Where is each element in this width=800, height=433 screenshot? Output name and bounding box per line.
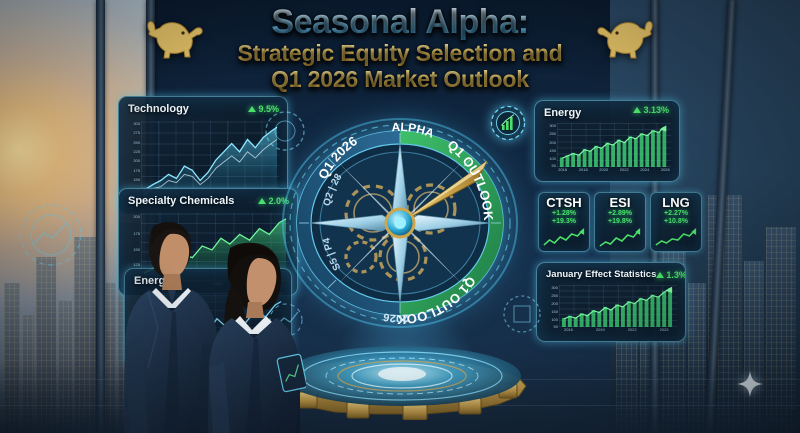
ticker-card[interactable]: LNG +2.27% +10.8% — [650, 192, 702, 252]
ticker-sparkline — [541, 227, 587, 249]
ticker-card-group: CTSH +1.28% +19.3% ESI +2.89% +19.8% — [538, 192, 702, 252]
title-block: Seasonal Alpha: Strategic Equity Selecti… — [0, 0, 800, 100]
ticker-change-1: +2.27% — [653, 210, 699, 218]
ticker-change-1: +2.89% — [597, 210, 643, 218]
bar-chart-icon[interactable] — [489, 104, 527, 142]
holographic-gear-pedestal — [275, 340, 530, 420]
ticker-symbol: CTSH — [541, 196, 587, 210]
compass-dial[interactable]: Q1 2026 ALPHA Q1 OUTLOOK Q1 OUTLOOK 2026… — [281, 117, 519, 329]
panel-delta: 3.13% — [633, 105, 669, 115]
page-subtitle-line-1: Strategic Equity Selection and — [0, 40, 800, 66]
panel-january-effect-statistics[interactable]: January Effect Statistics 1.3% 300250200… — [536, 262, 686, 342]
ticker-sparkline — [597, 227, 643, 249]
page-subtitle-line-2: Q1 2026 Market Outlook — [0, 66, 800, 92]
bull-icon — [596, 14, 658, 60]
ticker-symbol: ESI — [597, 196, 643, 210]
triangle-up-icon — [258, 198, 266, 204]
panel-energy[interactable]: Energy 3.13% 300250200 15010050 20162018… — [534, 100, 680, 182]
x-axis-labels: 20162019 20222025 — [559, 327, 677, 339]
panel-title: Technology — [128, 103, 189, 115]
ticker-card[interactable]: CTSH +1.28% +19.3% — [538, 192, 590, 252]
y-axis-labels: 300250200 15010050 — [537, 123, 557, 167]
ticker-sparkline — [653, 227, 699, 249]
screenshot-canvas: Seasonal Alpha: Strategic Equity Selecti… — [0, 0, 800, 433]
triangle-up-icon — [633, 107, 641, 113]
bull-icon — [142, 14, 204, 60]
chart-energy: 300250200 15010050 201620182020 20222024… — [557, 123, 671, 167]
panel-title: January Effect Statistics — [546, 269, 656, 280]
sparkle-icon — [737, 371, 763, 397]
panel-title: Energy — [544, 107, 581, 119]
panel-delta: 1.3% — [656, 270, 686, 280]
ticker-change-2: +19.3% — [541, 218, 587, 226]
ticker-card[interactable]: ESI +2.89% +19.8% — [594, 192, 646, 252]
page-title: Seasonal Alpha: — [0, 0, 800, 40]
hud-ring-decoration — [16, 200, 86, 270]
triangle-up-icon — [656, 272, 664, 278]
ticker-change-2: +19.8% — [597, 218, 643, 226]
x-axis-labels: 201620182020 202220242026 — [557, 167, 671, 179]
compass-label-2026: 2026 — [382, 310, 408, 324]
svg-text:2026: 2026 — [382, 310, 408, 324]
chart-january-effect: 300250200 15010050 20162019 20222025 — [559, 285, 677, 327]
ticker-symbol: LNG — [653, 196, 699, 210]
panel-title: Specialty Chemicals — [128, 195, 234, 207]
businesswoman-figure — [196, 238, 306, 433]
ticker-change-2: +10.8% — [653, 218, 699, 226]
ticker-change-1: +1.28% — [541, 210, 587, 218]
triangle-up-icon — [248, 106, 256, 112]
